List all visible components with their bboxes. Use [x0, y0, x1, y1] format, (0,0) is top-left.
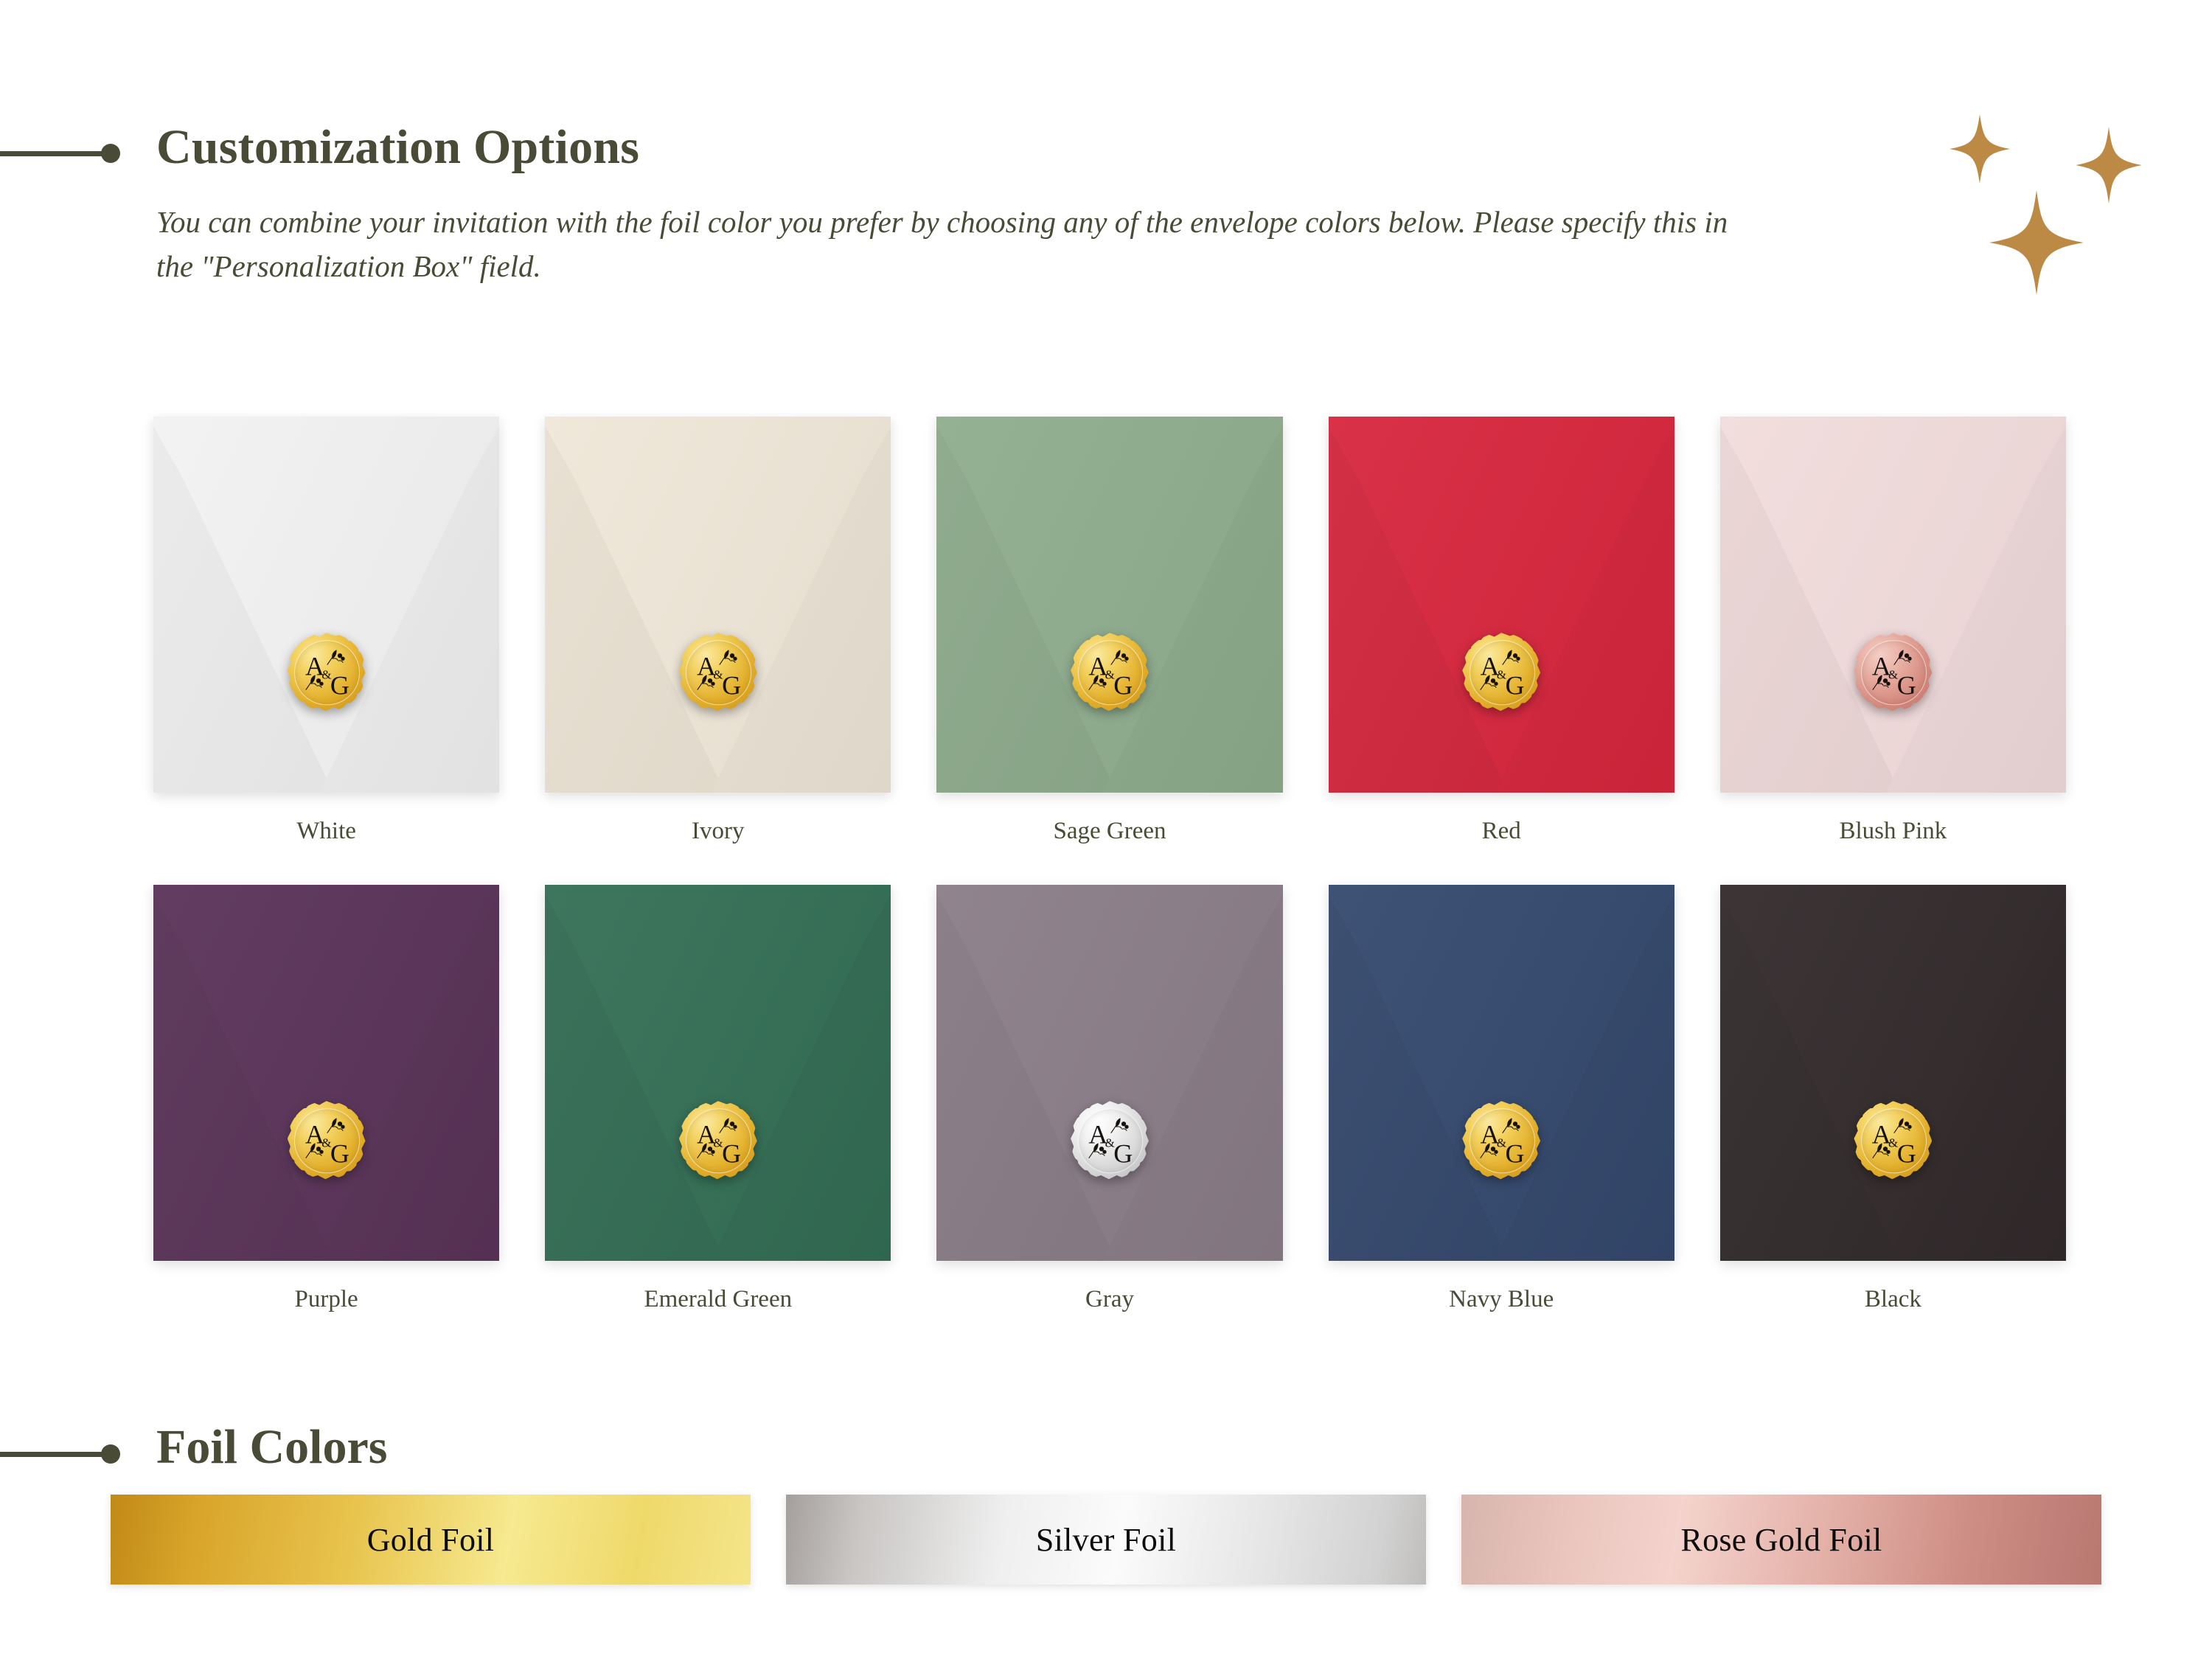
envelope-color-label: Purple	[295, 1286, 358, 1313]
leaf-sprig-icon	[303, 673, 325, 692]
wax-seal: A&G	[1854, 1101, 1932, 1179]
envelope-color-label: Blush Pink	[1840, 818, 1947, 845]
envelope-row-2: A&GPurpleA&GEmerald GreenA&GGrayA&GNavy …	[153, 885, 2066, 1313]
marker-rule	[0, 1452, 103, 1457]
envelope-row-1: A&GWhiteA&GIvoryA&GSage GreenA&GRedA&GBl…	[153, 417, 2066, 845]
foil-swatch-label: Rose Gold Foil	[1680, 1521, 1882, 1559]
marker-dot	[101, 144, 120, 163]
envelope-swatch-sage-green[interactable]: A&GSage Green	[936, 417, 1282, 845]
envelope-swatch-emerald-green[interactable]: A&GEmerald Green	[545, 885, 891, 1313]
leaf-sprig-icon	[1500, 648, 1522, 667]
leaf-sprig-icon	[1870, 1141, 1892, 1161]
wax-seal: A&G	[1071, 633, 1149, 711]
wax-seal: A&G	[679, 1101, 757, 1179]
envelope-swatch-gray[interactable]: A&GGray	[936, 885, 1282, 1313]
envelope-graphic[interactable]: A&G	[936, 417, 1282, 793]
seal-initial-right: G	[330, 672, 349, 698]
marker-dot	[101, 1444, 120, 1464]
leaf-sprig-icon	[695, 673, 717, 692]
seal-monogram: A&G	[1071, 633, 1149, 711]
envelope-color-label: Sage Green	[1053, 818, 1166, 845]
envelope-graphic[interactable]: A&G	[545, 417, 891, 793]
leaf-sprig-icon	[717, 648, 739, 667]
seal-monogram: A&G	[1462, 633, 1540, 711]
leaf-sprig-icon	[1870, 673, 1892, 692]
foil-swatch-silver-foil[interactable]: Silver Foil	[786, 1495, 1426, 1585]
seal-monogram: A&G	[288, 633, 366, 711]
envelope-graphic[interactable]: A&G	[153, 885, 499, 1261]
envelope-color-label: White	[296, 818, 356, 845]
wax-seal: A&G	[679, 633, 757, 711]
foil-swatch-gold-foil[interactable]: Gold Foil	[111, 1495, 751, 1585]
seal-initial-right: G	[1897, 1140, 1916, 1166]
envelope-graphic[interactable]: A&G	[1329, 417, 1674, 793]
envelope-graphic[interactable]: A&G	[936, 885, 1282, 1261]
leaf-sprig-icon	[324, 648, 347, 667]
page-description: You can combine your invitation with the…	[156, 201, 1749, 289]
envelope-color-label: Black	[1865, 1286, 1921, 1313]
wax-seal: A&G	[288, 633, 366, 711]
leaf-sprig-icon	[303, 1141, 325, 1161]
foil-swatch-label: Silver Foil	[1036, 1521, 1176, 1559]
header-section-marker	[0, 142, 120, 164]
leaf-sprig-icon	[1086, 1141, 1108, 1161]
envelope-graphic[interactable]: A&G	[1329, 885, 1674, 1261]
seal-monogram: A&G	[1462, 1101, 1540, 1179]
envelope-swatch-red[interactable]: A&GRed	[1329, 417, 1674, 845]
envelope-color-label: Red	[1482, 818, 1521, 845]
page-title: Customization Options	[156, 119, 639, 175]
wax-seal: A&G	[288, 1101, 366, 1179]
leaf-sprig-icon	[1108, 1116, 1130, 1135]
envelope-graphic[interactable]: A&G	[153, 417, 499, 793]
wax-seal: A&G	[1462, 633, 1540, 711]
seal-monogram: A&G	[1854, 1101, 1932, 1179]
leaf-sprig-icon	[695, 1141, 717, 1161]
envelope-graphic[interactable]: A&G	[1720, 417, 2066, 793]
envelope-swatch-purple[interactable]: A&GPurple	[153, 885, 499, 1313]
wax-seal: A&G	[1071, 1101, 1149, 1179]
seal-initial-right: G	[1897, 672, 1916, 698]
envelope-swatch-blush-pink[interactable]: A&GBlush Pink	[1720, 417, 2066, 845]
envelope-graphic[interactable]: A&G	[1720, 885, 2066, 1261]
foil-section-title: Foil Colors	[156, 1419, 387, 1475]
seal-monogram: A&G	[1071, 1101, 1149, 1179]
leaf-sprig-icon	[1108, 648, 1130, 667]
seal-initial-right: G	[1505, 672, 1524, 698]
leaf-sprig-icon	[1478, 1141, 1500, 1161]
envelope-color-label: Navy Blue	[1449, 1286, 1554, 1313]
leaf-sprig-icon	[1086, 673, 1108, 692]
leaf-sprig-icon	[324, 1116, 347, 1135]
seal-initial-right: G	[1113, 1140, 1133, 1166]
seal-initial-right: G	[722, 672, 741, 698]
sparkles-icon	[1939, 96, 2205, 347]
foil-swatch-label: Gold Foil	[367, 1521, 495, 1559]
seal-initial-right: G	[1505, 1140, 1524, 1166]
foil-swatch-rose-gold-foil[interactable]: Rose Gold Foil	[1461, 1495, 2101, 1585]
leaf-sprig-icon	[1478, 673, 1500, 692]
seal-initial-right: G	[1113, 672, 1133, 698]
seal-initial-right: G	[330, 1140, 349, 1166]
wax-seal: A&G	[1854, 633, 1932, 711]
seal-monogram: A&G	[679, 633, 757, 711]
leaf-sprig-icon	[717, 1116, 739, 1135]
leaf-sprig-icon	[1891, 1116, 1913, 1135]
wax-seal: A&G	[1462, 1101, 1540, 1179]
seal-monogram: A&G	[1854, 633, 1932, 711]
seal-monogram: A&G	[679, 1101, 757, 1179]
foil-swatch-row: Gold FoilSilver FoilRose Gold Foil	[111, 1495, 2101, 1585]
envelope-swatch-ivory[interactable]: A&GIvory	[545, 417, 891, 845]
envelope-swatch-black[interactable]: A&GBlack	[1720, 885, 2066, 1313]
envelope-swatch-white[interactable]: A&GWhite	[153, 417, 499, 845]
foil-section-marker	[0, 1443, 120, 1465]
envelope-color-label: Emerald Green	[644, 1286, 792, 1313]
leaf-sprig-icon	[1891, 648, 1913, 667]
envelope-color-label: Ivory	[692, 818, 744, 845]
seal-initial-right: G	[722, 1140, 741, 1166]
marker-rule	[0, 151, 103, 156]
envelope-color-label: Gray	[1085, 1286, 1134, 1313]
leaf-sprig-icon	[1500, 1116, 1522, 1135]
envelope-swatch-navy-blue[interactable]: A&GNavy Blue	[1329, 885, 1674, 1313]
seal-monogram: A&G	[288, 1101, 366, 1179]
envelope-graphic[interactable]: A&G	[545, 885, 891, 1261]
